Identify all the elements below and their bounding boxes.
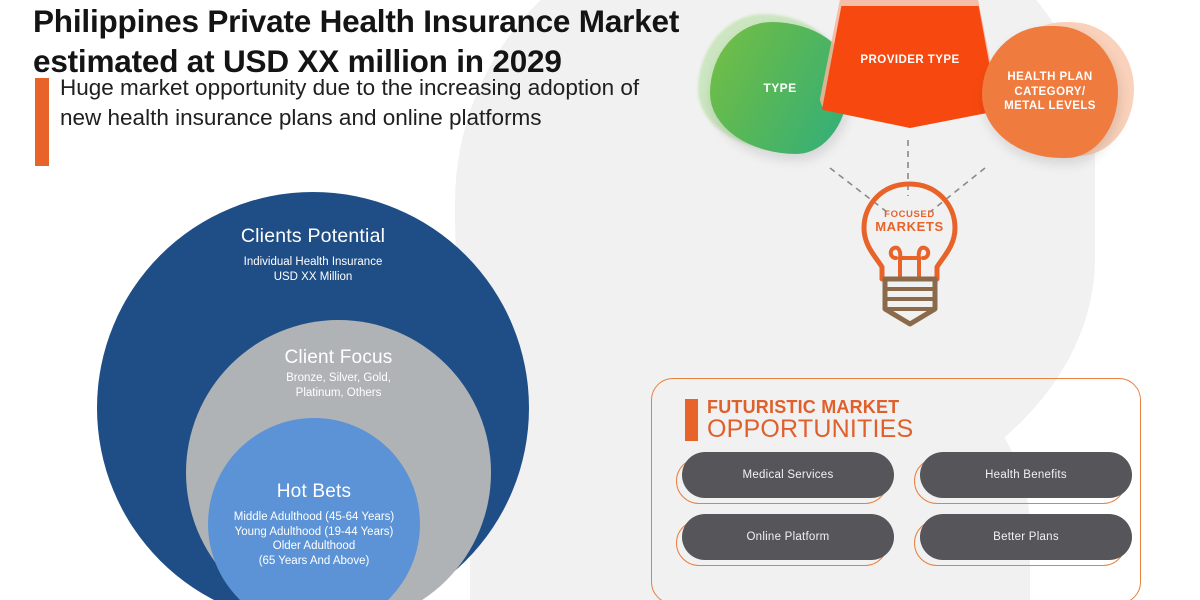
page-subtitle: Huge market opportunity due to the incre… — [60, 73, 670, 132]
circle-outer-detail: Individual Health Insurance USD XX Milli… — [97, 255, 529, 284]
pill-label: Health Benefits — [985, 469, 1067, 481]
pill-online-platform[interactable]: Online Platform — [682, 514, 894, 560]
fmo-heading-line2: OPPORTUNITIES — [707, 415, 913, 444]
circle-outer-labels: Clients Potential Individual Health Insu… — [97, 225, 529, 284]
opportunity-item-1[interactable]: Health Benefits — [920, 452, 1132, 498]
pill-better-plans[interactable]: Better Plans — [920, 514, 1132, 560]
pill-label: Better Plans — [993, 531, 1059, 543]
segment-health-plan-label: HEALTH PLAN CATEGORY/ METAL LEVELS — [995, 70, 1105, 113]
opportunity-item-0[interactable]: Medical Services — [682, 452, 894, 498]
pill-label: Medical Services — [743, 469, 834, 481]
segment-provider-type[interactable]: PROVIDER TYPE — [822, 6, 998, 128]
pill-medical-services[interactable]: Medical Services — [682, 452, 894, 498]
bulb-label-line2: MARKETS — [852, 220, 967, 234]
circle-outer-title: Clients Potential — [97, 225, 529, 248]
segment-provider-type-label: PROVIDER TYPE — [860, 53, 959, 67]
circle-inner-labels: Hot Bets Middle Adulthood (45-64 Years) … — [208, 481, 420, 569]
subtitle-accent-bar — [35, 78, 49, 166]
pill-label: Online Platform — [746, 531, 829, 543]
circle-inner-title: Hot Bets — [208, 481, 420, 503]
bulb-base — [885, 279, 935, 324]
pill-health-benefits[interactable]: Health Benefits — [920, 452, 1132, 498]
circle-middle-title: Client Focus — [186, 347, 491, 369]
focused-markets-bulb: FOCUSED MARKETS — [852, 178, 967, 338]
bulb-filament-right — [919, 248, 928, 279]
segment-health-plan[interactable]: HEALTH PLAN CATEGORY/ METAL LEVELS — [982, 26, 1118, 158]
circle-inner-detail: Middle Adulthood (45-64 Years) Young Adu… — [208, 510, 420, 569]
page-title: Philippines Private Health Insurance Mar… — [33, 2, 763, 81]
futuristic-market-opportunities-panel: FUTURISTIC MARKET OPPORTUNITIES Medical … — [651, 378, 1141, 600]
segment-type-label: TYPE — [763, 81, 796, 96]
circle-middle-labels: Client Focus Bronze, Silver, Gold, Plati… — [186, 347, 491, 400]
lightbulb-icon — [852, 178, 967, 338]
infographic-canvas: Philippines Private Health Insurance Mar… — [0, 0, 1200, 600]
circle-middle-detail: Bronze, Silver, Gold, Platinum, Others — [186, 371, 491, 400]
fmo-accent-bar — [685, 399, 698, 441]
opportunity-item-2[interactable]: Online Platform — [682, 514, 894, 560]
bulb-filament-left — [891, 248, 900, 279]
bulb-label: FOCUSED MARKETS — [852, 210, 967, 234]
opportunity-item-3[interactable]: Better Plans — [920, 514, 1132, 560]
